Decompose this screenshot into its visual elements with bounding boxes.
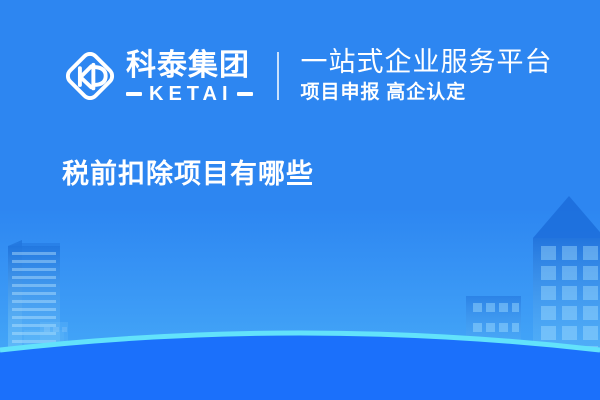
tagline-secondary: 项目申报 高企认定 — [301, 82, 553, 105]
brand-name-cn: 科泰集团 — [126, 50, 253, 82]
tagline-block: 一站式企业服务平台 项目申报 高企认定 — [301, 47, 553, 105]
banner-header: 科泰集团 KETAI 一站式企业服务平台 项目申报 高企认定 — [62, 40, 553, 112]
building-left-tall — [8, 240, 60, 352]
building-right-short — [466, 296, 521, 354]
building-left-short — [24, 322, 68, 354]
brand-logo[interactable]: 科泰集团 KETAI — [62, 43, 253, 109]
brand-dash-left — [126, 92, 142, 96]
brand-name-en-row: KETAI — [126, 84, 253, 104]
tagline-primary: 一站式企业服务平台 — [301, 47, 553, 78]
ketai-diamond-logo-icon — [62, 48, 118, 104]
promo-banner: 科泰集团 KETAI 一站式企业服务平台 项目申报 高企认定 税前扣除项目有哪些 — [0, 0, 600, 400]
header-divider — [277, 52, 279, 100]
brand-wordmark: 科泰集团 KETAI — [126, 48, 253, 105]
brand-dash-right — [237, 92, 253, 96]
building-right-tall — [533, 196, 600, 354]
page-title: 税前扣除项目有哪些 — [62, 158, 314, 190]
bottom-arc-band — [0, 335, 600, 400]
arc-highlight-line — [0, 333, 600, 350]
brand-name-en: KETAI — [142, 84, 237, 104]
